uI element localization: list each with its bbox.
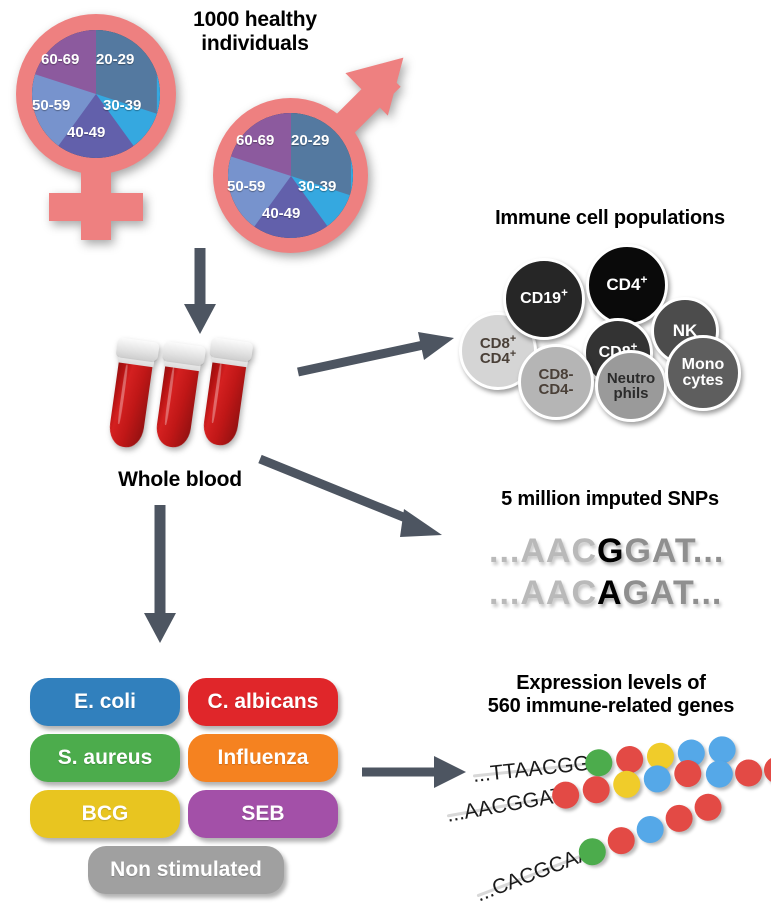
arrow-cohort-to-blood bbox=[180, 248, 220, 336]
cell-label: Neutrophils bbox=[607, 371, 655, 402]
snp-prefix: ...AAC bbox=[489, 532, 597, 570]
cell-label: Monocytes bbox=[682, 357, 725, 390]
pie-label-50-59: 50-59 bbox=[227, 178, 265, 195]
rna-strands-group: ...TTAACGG ...AACGGAT ...CACGCAA bbox=[455, 735, 771, 915]
snp-suffix: GAT... bbox=[624, 532, 724, 570]
pie-label-40-49: 40-49 bbox=[67, 124, 105, 141]
arrow-blood-to-snps bbox=[258, 455, 448, 545]
blood-tubes-group bbox=[105, 337, 265, 457]
rna-bead bbox=[604, 823, 639, 858]
arrow-stimuli-to-expression bbox=[360, 752, 470, 792]
immune-title: Immune cell populations bbox=[455, 207, 765, 230]
blood-tube bbox=[154, 342, 202, 450]
arrow-blood-to-stimuli bbox=[140, 505, 180, 645]
pie-label-30-39: 30-39 bbox=[298, 178, 336, 195]
stimulus-s-aureus[interactable]: S. aureus bbox=[30, 734, 180, 782]
expression-title-line2: 560 immune-related genes bbox=[455, 695, 767, 718]
male-symbol: 20-29 30-39 40-49 50-59 60-69 bbox=[205, 48, 410, 253]
stimulus-bcg[interactable]: BCG bbox=[30, 790, 180, 838]
pie-label-40-49: 40-49 bbox=[262, 205, 300, 222]
tube-shine bbox=[164, 367, 175, 425]
cohort-title-line1: 1000 healthy bbox=[160, 8, 350, 32]
cell-label: CD8-CD4- bbox=[538, 367, 573, 398]
blood-tube bbox=[107, 338, 156, 450]
stimulus-non-stimulated[interactable]: Non stimulated bbox=[88, 846, 284, 894]
rna-bead bbox=[672, 758, 703, 789]
whole-blood-label: Whole blood bbox=[80, 468, 280, 492]
expression-title-line1: Expression levels of bbox=[455, 672, 767, 695]
immune-cell-cd19pos: CD19+ bbox=[503, 258, 585, 340]
expression-title: Expression levels of 560 immune-related … bbox=[455, 672, 767, 718]
snp-allele-1: ...AACGGAT... bbox=[489, 532, 724, 571]
rna-bead bbox=[662, 801, 697, 836]
female-cross bbox=[49, 193, 143, 221]
rna-bead bbox=[762, 754, 771, 785]
pie-label-50-59: 50-59 bbox=[32, 97, 70, 114]
pie-label-20-29: 20-29 bbox=[96, 51, 134, 68]
immune-cell-cd8neg-cd4neg: CD8-CD4- bbox=[518, 344, 594, 420]
rna-bead bbox=[611, 769, 642, 800]
snp-variant: G bbox=[597, 532, 624, 570]
stimuli-panel: E. coli C. albicans S. aureus Influenza … bbox=[30, 678, 340, 893]
cell-label: CD8+CD4+ bbox=[480, 336, 516, 367]
strand-sequence: ...AACGGAT bbox=[445, 784, 566, 828]
stimulus-e-coli[interactable]: E. coli bbox=[30, 678, 180, 726]
blood-tube bbox=[201, 338, 249, 448]
rna-bead bbox=[642, 763, 673, 794]
snp-suffix: GAT... bbox=[623, 574, 723, 612]
rna-bead bbox=[691, 790, 726, 825]
rna-bead bbox=[633, 812, 668, 847]
cell-label: CD4+ bbox=[606, 276, 647, 293]
stimulus-influenza[interactable]: Influenza bbox=[188, 734, 338, 782]
pie-label-60-69: 60-69 bbox=[236, 132, 274, 149]
pie-label-30-39: 30-39 bbox=[103, 97, 141, 114]
snp-allele-2: ...AACAGAT... bbox=[489, 574, 722, 613]
immune-cells-group: CD8+CD4+ CD19+ CD4+ CD8+ NK CD8-CD4- Neu… bbox=[455, 240, 765, 420]
tube-shine bbox=[117, 364, 128, 425]
stimulus-c-albicans[interactable]: C. albicans bbox=[188, 678, 338, 726]
strand-sequence: ...CACGCAA bbox=[473, 841, 595, 907]
pie-label-20-29: 20-29 bbox=[291, 132, 329, 149]
snp-prefix: ...AAC bbox=[489, 574, 597, 612]
snp-variant: A bbox=[597, 574, 623, 612]
immune-cell-neutrophils: Neutrophils bbox=[595, 350, 667, 422]
cell-label: CD19+ bbox=[520, 291, 568, 307]
tube-shine bbox=[211, 364, 222, 423]
arrow-blood-to-immune bbox=[296, 330, 456, 380]
immune-cell-monocytes: Monocytes bbox=[665, 335, 741, 411]
pie-label-60-69: 60-69 bbox=[41, 51, 79, 68]
snps-title: 5 million imputed SNPs bbox=[455, 488, 765, 511]
rna-bead bbox=[581, 774, 612, 805]
stimulus-seb[interactable]: SEB bbox=[188, 790, 338, 838]
